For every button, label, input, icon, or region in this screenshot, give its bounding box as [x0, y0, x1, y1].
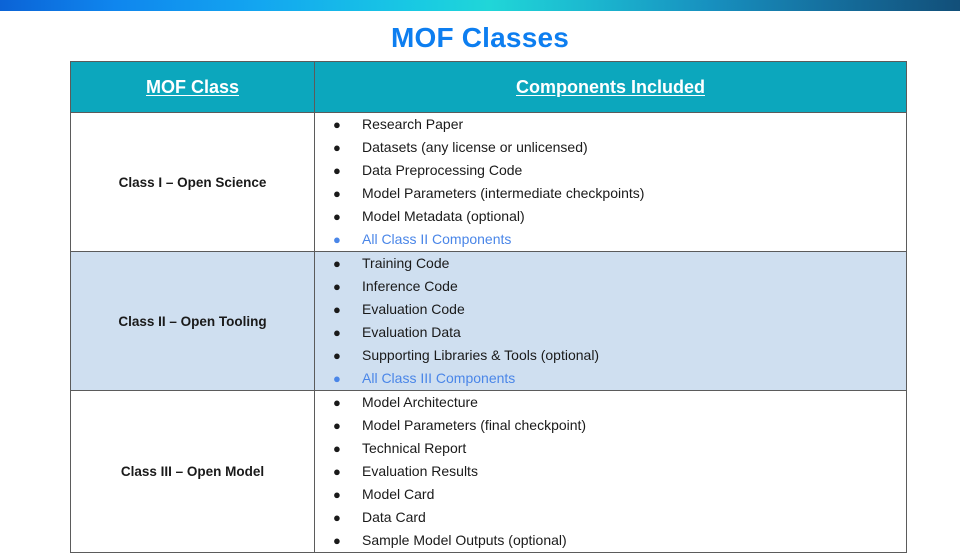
component-label: Data Card: [362, 506, 906, 528]
bullet-icon: ●: [315, 345, 362, 367]
bullet-icon: ●: [315, 183, 362, 205]
bullet-icon: ●: [315, 160, 362, 182]
bullet-icon: ●: [315, 530, 362, 552]
component-list-item: ●Data Preprocessing Code: [315, 159, 906, 182]
table-row: Class I – Open Science●Research Paper●Da…: [71, 113, 907, 252]
component-label: Sample Model Outputs (optional): [362, 529, 906, 551]
table-header-row: MOF Class Components Included: [71, 62, 907, 113]
bullet-icon: ●: [315, 368, 362, 390]
component-label[interactable]: All Class III Components: [362, 367, 906, 389]
component-link-item[interactable]: ●All Class III Components: [315, 367, 906, 390]
component-label: Research Paper: [362, 113, 906, 135]
bullet-icon: ●: [315, 438, 362, 460]
components-list: ●Training Code●Inference Code●Evaluation…: [315, 252, 906, 390]
components-cell: ●Model Architecture●Model Parameters (fi…: [315, 391, 907, 553]
components-cell: ●Research Paper●Datasets (any license or…: [315, 113, 907, 252]
component-label: Model Parameters (final checkpoint): [362, 414, 906, 436]
component-label: Inference Code: [362, 275, 906, 297]
component-label: Model Architecture: [362, 391, 906, 413]
component-label: Supporting Libraries & Tools (optional): [362, 344, 906, 366]
table-row: Class II – Open Tooling●Training Code●In…: [71, 252, 907, 391]
mof-class-cell: Class II – Open Tooling: [71, 252, 315, 391]
component-label: Model Metadata (optional): [362, 205, 906, 227]
components-cell: ●Training Code●Inference Code●Evaluation…: [315, 252, 907, 391]
component-label: Model Parameters (intermediate checkpoin…: [362, 182, 906, 204]
column-header-components-included-label: Components Included: [516, 76, 705, 98]
component-list-item: ●Model Metadata (optional): [315, 205, 906, 228]
component-list-item: ●Evaluation Data: [315, 321, 906, 344]
bullet-icon: ●: [315, 461, 362, 483]
mof-class-label: Class II – Open Tooling: [71, 313, 314, 330]
bullet-icon: ●: [315, 114, 362, 136]
bullet-icon: ●: [315, 276, 362, 298]
column-header-mof-class-label: MOF Class: [146, 76, 239, 98]
component-label: Evaluation Code: [362, 298, 906, 320]
component-list-item: ●Evaluation Code: [315, 298, 906, 321]
component-list-item: ●Evaluation Results: [315, 460, 906, 483]
component-label: Evaluation Data: [362, 321, 906, 343]
bullet-icon: ●: [315, 137, 362, 159]
bullet-icon: ●: [315, 206, 362, 228]
component-label: Technical Report: [362, 437, 906, 459]
component-list-item: ●Model Parameters (intermediate checkpoi…: [315, 182, 906, 205]
bullet-icon: ●: [315, 229, 362, 251]
page-title: MOF Classes: [0, 21, 960, 55]
bullet-icon: ●: [315, 253, 362, 275]
component-list-item: ●Datasets (any license or unlicensed): [315, 136, 906, 159]
bullet-icon: ●: [315, 415, 362, 437]
component-label: Model Card: [362, 483, 906, 505]
bullet-icon: ●: [315, 392, 362, 414]
mof-classes-table: MOF Class Components Included Class I – …: [70, 61, 907, 553]
component-label: Datasets (any license or unlicensed): [362, 136, 906, 158]
component-list-item: ●Model Card: [315, 483, 906, 506]
component-list-item: ●Training Code: [315, 252, 906, 275]
mof-class-label: Class III – Open Model: [71, 463, 314, 480]
mof-class-cell: Class I – Open Science: [71, 113, 315, 252]
component-link-item[interactable]: ●All Class II Components: [315, 228, 906, 251]
bullet-icon: ●: [315, 507, 362, 529]
component-list-item: ●Inference Code: [315, 275, 906, 298]
mof-class-label: Class I – Open Science: [71, 174, 314, 191]
component-list-item: ●Research Paper: [315, 113, 906, 136]
table-body: Class I – Open Science●Research Paper●Da…: [71, 113, 907, 553]
gradient-accent-bar: [0, 0, 960, 11]
column-header-components-included: Components Included: [315, 62, 907, 113]
component-list-item: ●Model Architecture: [315, 391, 906, 414]
components-list: ●Research Paper●Datasets (any license or…: [315, 113, 906, 251]
component-list-item: ●Sample Model Outputs (optional): [315, 529, 906, 552]
bullet-icon: ●: [315, 484, 362, 506]
mof-class-cell: Class III – Open Model: [71, 391, 315, 553]
table-row: Class III – Open Model●Model Architectur…: [71, 391, 907, 553]
components-list: ●Model Architecture●Model Parameters (fi…: [315, 391, 906, 552]
bullet-icon: ●: [315, 322, 362, 344]
component-list-item: ●Data Card: [315, 506, 906, 529]
component-list-item: ●Supporting Libraries & Tools (optional): [315, 344, 906, 367]
component-label: Evaluation Results: [362, 460, 906, 482]
bullet-icon: ●: [315, 299, 362, 321]
column-header-mof-class: MOF Class: [71, 62, 315, 113]
component-list-item: ●Model Parameters (final checkpoint): [315, 414, 906, 437]
component-list-item: ●Technical Report: [315, 437, 906, 460]
component-label: Training Code: [362, 252, 906, 274]
component-label[interactable]: All Class II Components: [362, 228, 906, 250]
component-label: Data Preprocessing Code: [362, 159, 906, 181]
